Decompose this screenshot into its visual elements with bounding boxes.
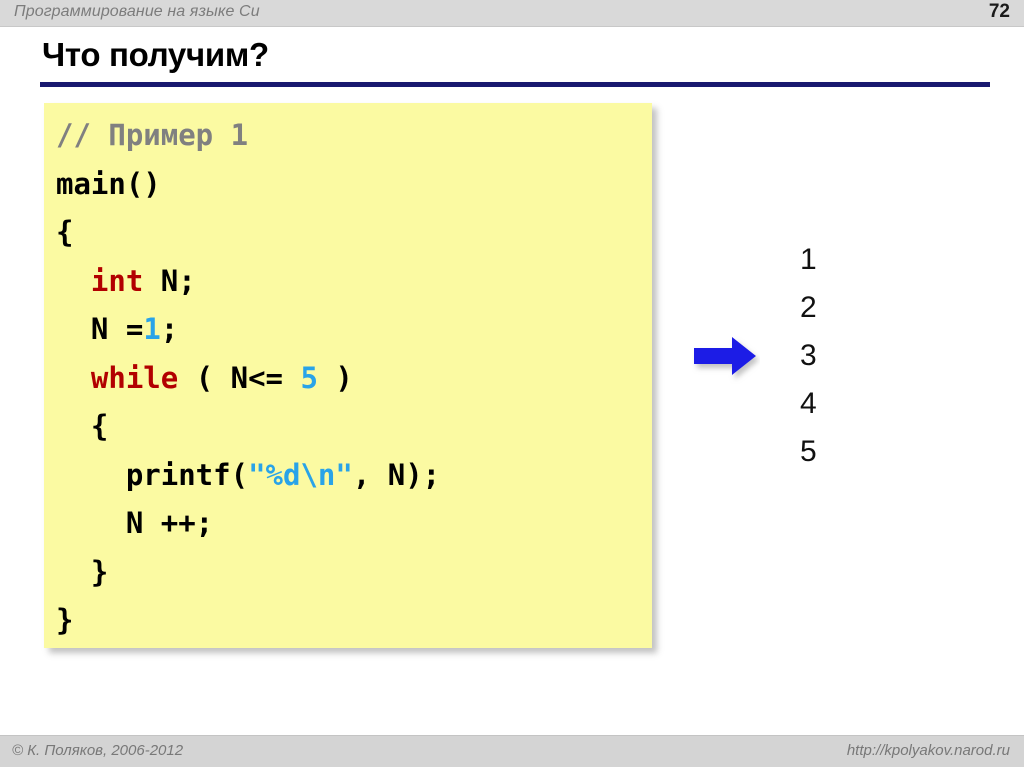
code-line: printf("%d\n", N); [56, 451, 440, 500]
output-line: 4 [800, 380, 817, 428]
code-indent [56, 506, 126, 540]
code-token-comment: // Пример 1 [56, 118, 248, 152]
course-title: Программирование на языке Си [14, 3, 260, 21]
page-title: Что получим? [42, 36, 269, 74]
code-token-number: 5 [300, 361, 317, 395]
code-token-plain: , N); [353, 458, 440, 492]
code-token-plain: N; [143, 264, 195, 298]
output-line: 3 [800, 332, 817, 380]
code-token-plain: N = [91, 312, 143, 346]
output-line: 1 [800, 236, 817, 284]
code-line: while ( N<= 5 ) [56, 354, 440, 403]
code-indent [56, 409, 91, 443]
code-line: // Пример 1 [56, 111, 440, 160]
code-token-plain: ( N<= [178, 361, 300, 395]
code-token-plain: { [56, 215, 73, 249]
code-token-plain: } [56, 603, 73, 637]
code-token-plain: N ++; [126, 506, 213, 540]
code-token-keyword: int [91, 264, 143, 298]
code-indent [56, 264, 91, 298]
code-token-number: 1 [143, 312, 160, 346]
slide-header-bar: Программирование на языке Си 72 [0, 0, 1024, 27]
slide-footer-bar: © К. Поляков, 2006-2012 http://kpolyakov… [0, 735, 1024, 767]
output-line: 5 [800, 428, 817, 476]
code-indent [56, 312, 91, 346]
code-indent [56, 361, 91, 395]
code-token-plain: main() [56, 167, 161, 201]
code-listing: // Пример 1main(){ int N; N =1; while ( … [56, 111, 440, 645]
slide-number: 72 [989, 1, 1010, 23]
title-underline-rule [40, 82, 990, 87]
code-token-plain: { [91, 409, 108, 443]
code-line: N =1; [56, 305, 440, 354]
code-line: } [56, 596, 440, 645]
code-indent [56, 555, 91, 589]
code-line: main() [56, 160, 440, 209]
code-token-plain: printf( [126, 458, 248, 492]
code-token-plain: ) [318, 361, 353, 395]
output-line: 2 [800, 284, 817, 332]
code-block: // Пример 1main(){ int N; N =1; while ( … [44, 103, 652, 648]
code-line: int N; [56, 257, 440, 306]
code-token-keyword: while [91, 361, 178, 395]
code-line: { [56, 208, 440, 257]
code-indent [56, 458, 126, 492]
code-token-plain: ; [161, 312, 178, 346]
program-output-list: 1 2 3 4 5 [800, 236, 817, 476]
right-arrow-icon [692, 334, 760, 384]
footer-url[interactable]: http://kpolyakov.narod.ru [847, 742, 1010, 759]
code-line: { [56, 402, 440, 451]
footer-copyright: © К. Поляков, 2006-2012 [12, 742, 183, 759]
code-line: } [56, 548, 440, 597]
code-line: N ++; [56, 499, 440, 548]
code-token-plain: } [91, 555, 108, 589]
code-token-string: "%d\n" [248, 458, 353, 492]
